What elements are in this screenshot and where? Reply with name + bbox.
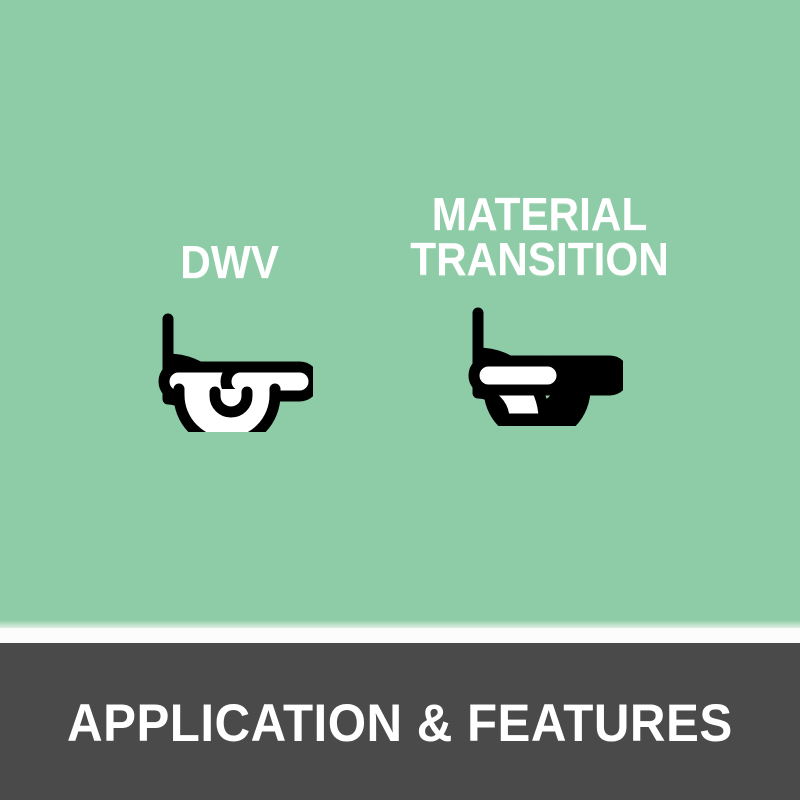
p-trap-pipe-outline-icon: [148, 297, 313, 432]
banner-title: APPLICATION & FEATURES: [67, 697, 733, 750]
hero-bottom-fade: [0, 620, 800, 628]
panel-divider: [0, 628, 800, 643]
product-feature-poster: DWV MATERIAL TRANSITION: [0, 0, 800, 800]
feature-dwv: DWV: [130, 240, 330, 432]
feature-material-transition-label: MATERIAL TRANSITION: [411, 192, 670, 281]
caption-banner: APPLICATION & FEATURES: [0, 643, 800, 800]
feature-dwv-label: DWV: [181, 240, 280, 285]
feature-material-transition: MATERIAL TRANSITION: [400, 192, 680, 426]
p-trap-pipe-two-tone-icon: [458, 291, 623, 426]
